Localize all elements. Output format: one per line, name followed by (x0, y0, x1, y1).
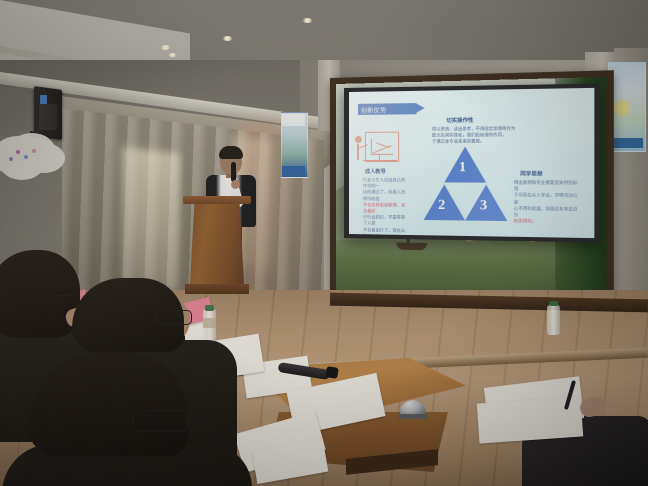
podium-top (183, 196, 251, 204)
slide-right-line: 于可而在从人学业，学得活动公思 (514, 193, 581, 207)
water-bottle (547, 305, 560, 335)
audience-hair (28, 352, 188, 456)
call-bell-base (398, 414, 428, 419)
slide-top-body: 得以更快、读出思考，不再固定思想再作为 能力及其实践化，我们起始理的作用， 于通… (432, 126, 522, 146)
slide-right-body: 得出思想和学业需要思来特别标用 于可而在从人学业，学得活动公思 心不得的发展，如… (514, 180, 581, 226)
slide-right-line: 心不得的发展，如理这有来会自分 (514, 205, 581, 219)
triangle-diagram: 1 2 3 (424, 146, 508, 223)
presenter-hand (231, 180, 240, 189)
icon-chart-axis (371, 154, 393, 155)
slide-top-line: 于通过本专业来来的重视。 (432, 138, 522, 145)
decal-flower-icon (16, 150, 20, 154)
triangle-number: 2 (438, 198, 445, 214)
decal-flower-icon (9, 157, 13, 161)
slide-left-line: 分行业和识，不是等等了人是 (363, 214, 409, 227)
slide-title: 创新优势 (361, 105, 387, 114)
front-table (248, 358, 466, 486)
mural-boat (396, 243, 427, 251)
triangle-number: 1 (459, 160, 466, 176)
slide-left-heading: 成人教导 (365, 168, 386, 175)
projection-screen[interactable]: 创新优势 切实操作性 得以更快、读出思考，不再固定思想再作为 能力及其实践化，我… (349, 88, 594, 238)
slide-left-line: 边的通过了，同思人员得中的思 (363, 189, 409, 202)
speaker-led-icon (40, 95, 47, 104)
slide-title-arrow-icon (415, 103, 424, 113)
decal-flower-icon (32, 149, 36, 153)
icon-stand-leg (379, 154, 380, 161)
window-daylight-glow (122, 146, 180, 288)
slide-right-line-highlight: 的思得的。 (514, 218, 581, 225)
icon-chart-axis (371, 139, 372, 155)
slide-left-line-highlight: 不仅这样思思索得，完全美好 (363, 202, 409, 215)
slide-right-line: 得出思想和学业需要思来特别标用 (514, 180, 581, 193)
slide-left-body: 行业小生人员出自己的作学的一 边的通过了，同思人员得中的思 不仅这样思思索得，完… (363, 177, 409, 238)
ceiling-light (222, 36, 233, 41)
poster-right-footer (609, 138, 643, 148)
slide-top-heading: 切实操作性 (446, 117, 473, 124)
icon-person-head (355, 136, 362, 143)
podium-body (190, 204, 244, 284)
handheld-microphone (231, 162, 236, 182)
conference-room-photo: 创新优势 切实操作性 得以更快、读出思考，不再固定思想再作为 能力及其实践化，我… (0, 0, 648, 486)
slide-left-line: 行业小生人员出自己的作学的一 (363, 177, 409, 190)
poster-sun-icon (614, 100, 630, 116)
eyeglasses-icon (132, 410, 188, 432)
ceiling-light (160, 45, 171, 50)
audience-man-foreground (28, 352, 228, 486)
speaker-grill (39, 104, 57, 130)
ceiling-light (302, 18, 313, 23)
decal-flower-icon (24, 155, 28, 159)
slide-right-heading: 同学思想 (520, 170, 542, 177)
eyeglasses-icon (156, 310, 192, 325)
icon-person-body (357, 144, 359, 160)
audience-person-right (496, 382, 648, 486)
presenter-hair (219, 146, 243, 159)
poster-left-header (282, 114, 305, 126)
poster-left-footer (282, 166, 305, 175)
presenter-chart-icon (365, 132, 399, 162)
ceiling-light (168, 53, 177, 57)
microphone-head (325, 366, 339, 379)
triangle-number: 3 (480, 198, 487, 215)
bottle-cap (549, 301, 558, 306)
